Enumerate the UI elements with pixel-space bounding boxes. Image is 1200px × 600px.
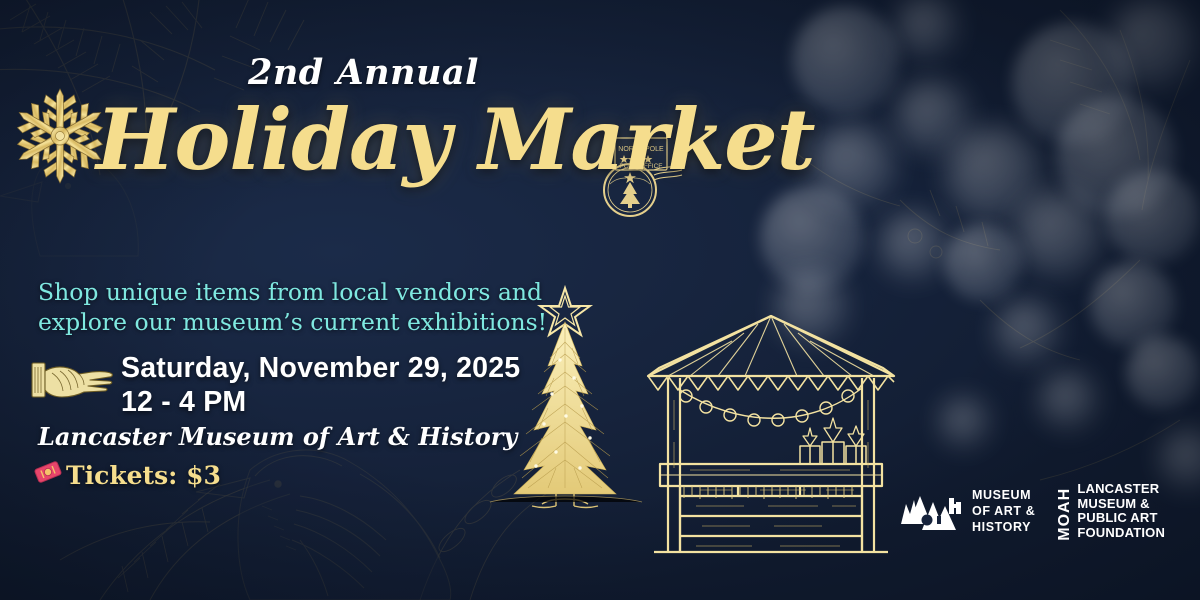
- foundation-logo-line2: MUSEUM &: [1077, 497, 1165, 512]
- logo-group: MUSEUM OF ART & HISTORY MOAH LANCASTER M…: [900, 482, 1165, 541]
- foundation-logo[interactable]: MOAH LANCASTER MUSEUM & PUBLIC ART FOUND…: [1057, 482, 1165, 541]
- ticket-price: Tickets: $3: [66, 461, 221, 490]
- subtitle-text: Shop unique items from local vendors and…: [38, 277, 568, 337]
- foundation-logo-line1: LANCASTER: [1077, 482, 1165, 497]
- museum-logo-line2: OF ART &: [972, 503, 1035, 519]
- museum-logo-line3: HISTORY: [972, 519, 1035, 535]
- eyebrow-text: 2nd Annual: [248, 52, 479, 93]
- museum-logo[interactable]: MUSEUM OF ART & HISTORY: [900, 487, 1035, 535]
- pointing-hand-icon: [30, 355, 114, 407]
- holiday-market-banner: NORTH POLE POST OFFICE: [0, 0, 1200, 600]
- ticket-icon: [33, 458, 63, 486]
- moah-mark-icon: [900, 490, 962, 532]
- museum-logo-line1: MUSEUM: [972, 487, 1035, 503]
- event-venue: Lancaster Museum of Art & History: [38, 422, 517, 451]
- event-date: Saturday, November 29, 2025: [121, 352, 520, 385]
- page-title: Holiday Market: [96, 90, 815, 189]
- foundation-logo-line4: FOUNDATION: [1077, 526, 1165, 541]
- event-time: 12 - 4 PM: [121, 386, 246, 419]
- foundation-logo-mark: MOAH: [1057, 482, 1073, 541]
- foundation-logo-text: LANCASTER MUSEUM & PUBLIC ART FOUNDATION: [1077, 482, 1165, 541]
- foundation-logo-line3: PUBLIC ART: [1077, 511, 1165, 526]
- museum-logo-text: MUSEUM OF ART & HISTORY: [972, 487, 1035, 535]
